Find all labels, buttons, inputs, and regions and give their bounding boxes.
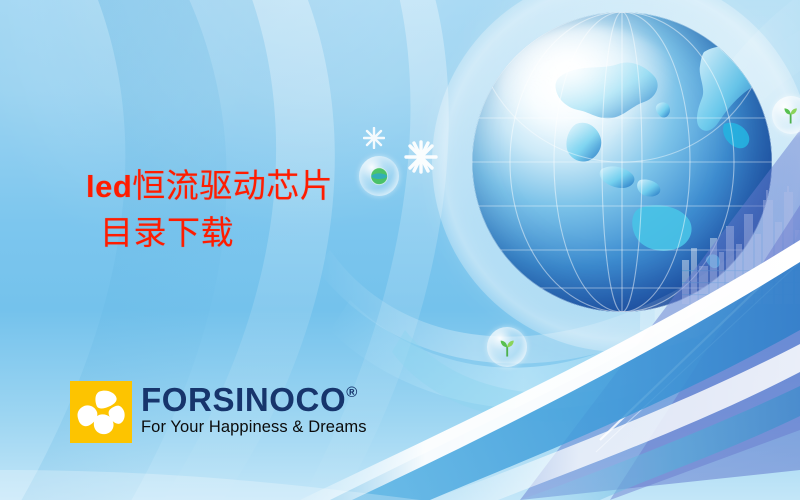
headline-cjk: 恒流驱动芯片: [132, 169, 333, 205]
company-logo[interactable]: FORSINOCO® For Your Happiness & Dreams: [70, 381, 367, 443]
globe-highlight: [498, 26, 678, 146]
sparkle-large: [404, 140, 438, 174]
logo-tagline: For Your Happiness & Dreams: [141, 418, 367, 437]
registered-mark: ®: [346, 384, 358, 401]
leaf-bubble-icon: [496, 336, 518, 358]
bubble-sprout: [487, 327, 527, 367]
logo-mark: [70, 381, 132, 443]
logo-name-text: FORSINOCO: [141, 381, 346, 418]
city-skyline-silhouette: [680, 186, 800, 304]
leaf-bubble-icon: [780, 104, 800, 125]
promo-banner: led恒流驱动芯片 目录下载 FORSINOCO® For Your Happi…: [0, 0, 800, 500]
headline: led恒流驱动芯片 目录下载: [86, 163, 333, 258]
logo-text: FORSINOCO® For Your Happiness & Dreams: [141, 381, 367, 437]
logo-name: FORSINOCO®: [141, 383, 367, 417]
headline-latin: led: [86, 169, 132, 204]
headline-line-2: 目录下载: [86, 211, 333, 258]
bubble-globe: [359, 156, 399, 196]
globe-bubble-icon: [368, 165, 390, 187]
four-petal-flower-icon: [70, 381, 132, 443]
headline-line-1: led恒流驱动芯片: [86, 169, 333, 205]
sparkle-small: [363, 127, 385, 149]
